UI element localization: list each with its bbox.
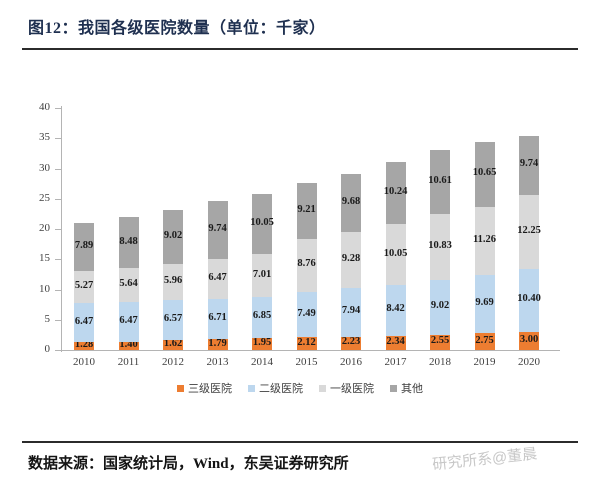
x-axis-line	[61, 350, 560, 351]
source-note: 数据来源：国家统计局，Wind，东吴证券研究所	[28, 452, 349, 473]
bar-value-label: 10.40	[501, 293, 557, 304]
legend-swatch-icon	[390, 385, 397, 392]
legend-label: 一级医院	[330, 380, 374, 396]
bar-column[interactable]: 3.0010.4012.259.74	[519, 58, 539, 350]
bar-column[interactable]: 1.956.857.0110.05	[252, 58, 272, 350]
legend-item[interactable]: 一级医院	[319, 380, 374, 396]
bar-column[interactable]: 2.759.6911.2610.65	[475, 58, 495, 350]
x-axis-tick-label: 2012	[151, 356, 195, 368]
bar-value-label: 10.24	[368, 186, 424, 197]
x-axis-tick-label: 2019	[463, 356, 507, 368]
y-axis-tick-label: 5	[16, 313, 50, 325]
bar-column[interactable]: 2.348.4210.0510.24	[386, 58, 406, 350]
y-axis-tick-label: 10	[16, 283, 50, 295]
y-axis-tick	[55, 138, 61, 139]
legend-swatch-icon	[248, 385, 255, 392]
x-axis-tick-label: 2011	[107, 356, 151, 368]
legend-swatch-icon	[319, 385, 326, 392]
bar-column[interactable]: 1.406.475.648.48	[119, 58, 139, 350]
bar-value-label: 10.05	[234, 217, 290, 228]
x-axis-tick-label: 2017	[374, 356, 418, 368]
y-axis-tick-label: 15	[16, 252, 50, 264]
watermark-text: 研究所系@董晨	[431, 443, 538, 475]
y-axis-tick	[55, 169, 61, 170]
y-axis-tick-label: 20	[16, 222, 50, 234]
bar-value-label: 9.74	[501, 158, 557, 169]
y-axis-tick-label: 35	[16, 131, 50, 143]
bar-column[interactable]: 1.796.716.479.74	[208, 58, 228, 350]
x-axis-tick-label: 2018	[418, 356, 462, 368]
bar-value-label: 9.68	[323, 196, 379, 207]
x-axis-tick-label: 2016	[329, 356, 373, 368]
y-axis-tick	[55, 350, 61, 351]
page-title: 图12：我国各级医院数量（单位：千家）	[28, 14, 326, 38]
footer-divider	[22, 441, 578, 443]
y-axis-tick	[55, 229, 61, 230]
y-axis-tick-label: 25	[16, 192, 50, 204]
header-divider	[22, 48, 578, 50]
x-axis-tick-label: 2014	[240, 356, 284, 368]
y-axis-tick-label: 40	[16, 101, 50, 113]
x-axis-tick-label: 2020	[507, 356, 551, 368]
legend-item[interactable]: 三级医院	[177, 380, 232, 396]
bar-column[interactable]: 1.286.475.277.89	[74, 58, 94, 350]
bar-value-label: 12.25	[501, 225, 557, 236]
legend-label: 二级医院	[259, 380, 303, 396]
bar-column[interactable]: 1.626.575.969.02	[163, 58, 183, 350]
legend-item[interactable]: 二级医院	[248, 380, 303, 396]
y-axis-tick	[55, 259, 61, 260]
legend-label: 其他	[401, 380, 423, 396]
x-axis-tick-label: 2013	[196, 356, 240, 368]
bar-value-label: 3.00	[501, 334, 557, 345]
bar-column[interactable]: 2.127.498.769.21	[297, 58, 317, 350]
y-axis-tick-label: 30	[16, 162, 50, 174]
bar-value-label: 7.01	[234, 269, 290, 280]
y-axis-tick	[55, 199, 61, 200]
legend-swatch-icon	[177, 385, 184, 392]
chart-legend: 三级医院二级医院一级医院其他	[0, 378, 600, 398]
figure-header: 图12：我国各级医院数量（单位：千家）	[0, 0, 600, 54]
legend-item[interactable]: 其他	[390, 380, 423, 396]
stacked-bar-chart: 0510152025303540 1.286.475.277.891.406.4…	[0, 58, 600, 408]
legend-label: 三级医院	[188, 380, 232, 396]
x-axis-tick-label: 2015	[285, 356, 329, 368]
x-axis-tick-label: 2010	[62, 356, 106, 368]
y-axis-tick-label: 0	[16, 343, 50, 355]
y-axis-tick	[55, 108, 61, 109]
bar-column[interactable]: 2.559.0210.8310.61	[430, 58, 450, 350]
bar-column[interactable]: 2.237.949.289.68	[341, 58, 361, 350]
